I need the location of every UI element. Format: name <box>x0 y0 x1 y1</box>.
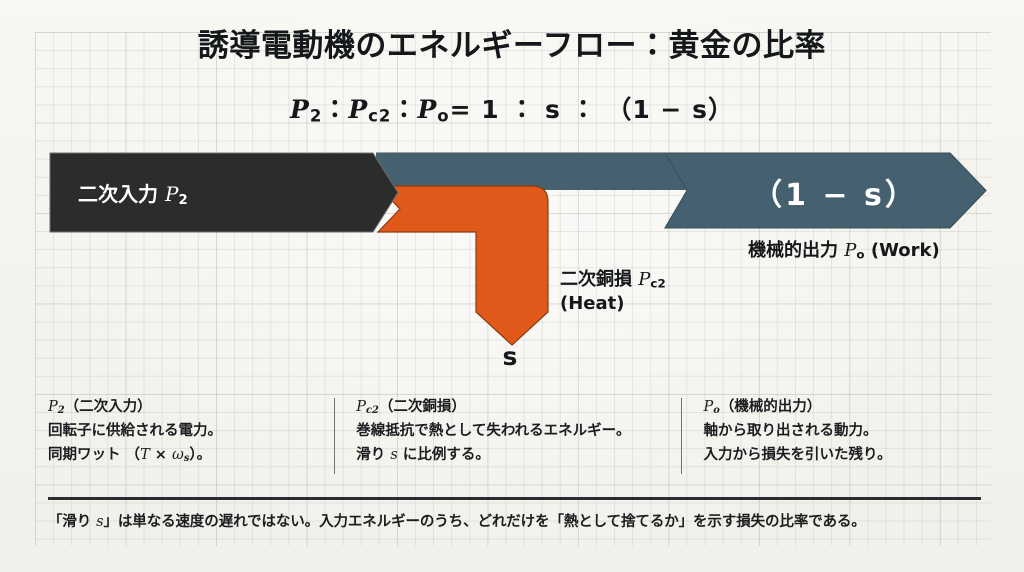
input-arrow-label-symbol: P <box>165 182 178 206</box>
input-arrow-label: 二次入力 P2 <box>78 178 188 208</box>
column-3-line-2: 入力から損失を引いた残り。 <box>703 444 980 467</box>
loss-caption-prefix: 二次銅損 <box>560 269 638 290</box>
formula-p2-symbol: P <box>290 95 310 124</box>
column-2-line-1: 巻線抵抗で熱として失われるエネルギー。 <box>356 420 681 443</box>
loss-caption-sub: c2 <box>650 277 665 291</box>
column-1-heading: P2（二次入力） <box>48 396 334 419</box>
ratio-formula: P2：Pc2：Po= 1 ： s ： （1 − s） <box>0 90 1024 126</box>
page-title: 誘導電動機のエネルギーフロー：黄金の比率 <box>0 28 1024 65</box>
column-2-line-2: 滑り s に比例する。 <box>356 444 681 467</box>
formula-equality: = 1 ： s ： （1 − s） <box>450 95 734 124</box>
formula-pc2-sub: c2 <box>368 107 391 126</box>
column-1-times: × <box>150 447 172 463</box>
output-caption-symbol: P <box>844 240 856 261</box>
column-2-heading-text: （二次銅損） <box>379 399 466 415</box>
definition-columns: P2（二次入力） 回転子に供給される電力。 同期ワット （T × ωs）。 Pc… <box>48 396 980 478</box>
column-1-line-2: 同期ワット （T × ωs）。 <box>48 444 334 467</box>
column-1-heading-text: （二次入力） <box>65 399 152 415</box>
definition-column-p2: P2（二次入力） 回転子に供給される電力。 同期ワット （T × ωs）。 <box>48 396 334 478</box>
column-1-symbol: P <box>48 399 58 415</box>
footer-divider <box>48 497 981 500</box>
column-1-line2-post: ）。 <box>189 447 211 463</box>
input-arrow-label-sub: 2 <box>178 193 187 208</box>
loss-arrow-value: s <box>478 342 542 371</box>
slide-canvas: 誘導電動機のエネルギーフロー：黄金の比率 P2：Pc2：Po= 1 ： s ： … <box>0 0 1024 572</box>
loss-arrow-caption: 二次銅損 Pc2 (Heat) <box>560 268 666 317</box>
column-2-slip-symbol: s <box>390 447 397 463</box>
column-1-torque-symbol: T <box>140 447 150 463</box>
column-2-line2-post: に比例する。 <box>398 447 490 463</box>
conclusion-text: 「滑り s」は単なる速度の遅れではない。入力エネルギーのうち、どれだけを「熱とし… <box>48 510 988 531</box>
definition-column-po: Po（機械的出力） 軸から取り出される動力。 入力から損失を引いた残り。 <box>681 396 980 478</box>
formula-pc2-symbol: P <box>348 95 368 124</box>
output-arrow-caption: 機械的出力 Po (Work) <box>748 236 940 262</box>
input-arrow-label-prefix: 二次入力 <box>78 182 165 206</box>
formula-po-symbol: P <box>417 95 437 124</box>
formula-sep-1: ： <box>322 95 348 124</box>
column-3-heading-text: （機械的出力） <box>720 399 822 415</box>
column-3-symbol: P <box>703 399 713 415</box>
column-1-line-1: 回転子に供給される電力。 <box>48 420 334 443</box>
loss-caption-line-1: 二次銅損 Pc2 <box>560 268 666 292</box>
formula-p2-sub: 2 <box>310 107 322 126</box>
output-caption-suffix: (Work) <box>865 240 940 261</box>
output-caption-prefix: 機械的出力 <box>748 240 844 261</box>
column-2-sub: c2 <box>366 405 379 416</box>
column-3-line-1: 軸から取り出される動力。 <box>703 420 980 443</box>
column-1-omega-symbol: ω <box>172 447 184 463</box>
column-3-heading: Po（機械的出力） <box>703 396 980 419</box>
column-1-sub: 2 <box>58 405 65 416</box>
conclusion-slip-symbol: s <box>96 514 103 530</box>
conclusion-post: 」は単なる速度の遅れではない。入力エネルギーのうち、どれだけを「熱として捨てるか… <box>104 514 866 530</box>
column-3-sub: o <box>713 405 720 416</box>
definition-column-pc2: Pc2（二次銅損） 巻線抵抗で熱として失われるエネルギー。 滑り s に比例する… <box>334 396 681 478</box>
formula-po-sub: o <box>437 107 449 126</box>
column-1-line2-pre: 同期ワット （ <box>48 447 140 463</box>
conclusion-pre: 「滑り <box>48 514 96 530</box>
output-arrow-value: （1 − s） <box>690 170 980 214</box>
column-divider-2 <box>681 398 682 474</box>
column-divider-1 <box>334 398 335 474</box>
column-2-line2-pre: 滑り <box>356 447 390 463</box>
loss-caption-symbol: P <box>638 269 650 290</box>
output-caption-sub: o <box>856 248 864 262</box>
formula-sep-2: ： <box>391 95 417 124</box>
loss-caption-line-2: (Heat) <box>560 292 666 316</box>
column-2-heading: Pc2（二次銅損） <box>356 396 681 419</box>
column-2-symbol: P <box>356 399 366 415</box>
